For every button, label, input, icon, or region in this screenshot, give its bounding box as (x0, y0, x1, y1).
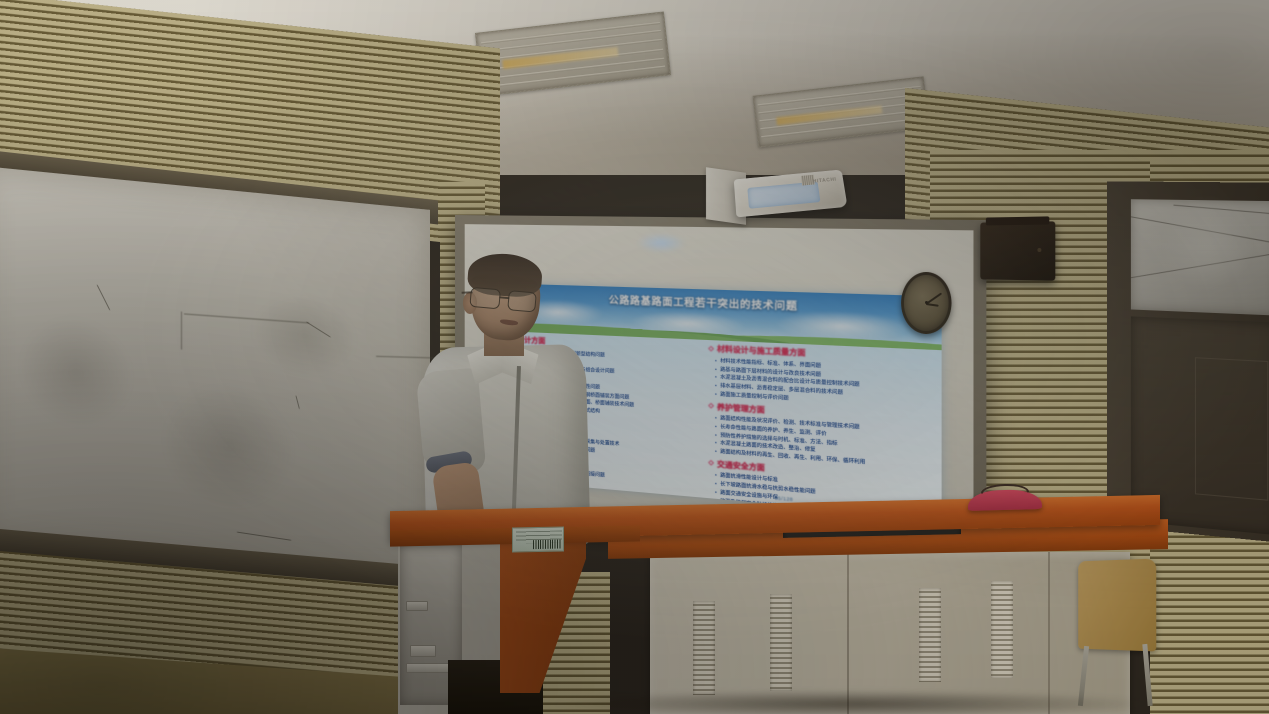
slide-section-heading-text: 材料设计与施工质量方面 (717, 344, 806, 359)
projector-brand-label: HITACHI (812, 177, 836, 184)
power-socket[interactable] (410, 645, 436, 657)
door-light-spill (1160, 196, 1255, 291)
diamond-bullet-icon: ◇ (709, 402, 714, 410)
clock-hour-hand (926, 303, 939, 307)
wall-speaker (980, 221, 1055, 280)
power-socket[interactable] (406, 601, 428, 611)
dash-bullet-icon: ▪ (715, 358, 717, 364)
dash-bullet-icon: ▪ (715, 431, 717, 437)
slide-section-heading-text: 养护管理方面 (717, 401, 765, 415)
speaker-led-icon (1037, 247, 1041, 251)
asset-tag-label (512, 526, 564, 552)
dash-bullet-icon: ▪ (715, 440, 717, 446)
dash-bullet-icon: ▪ (715, 472, 717, 478)
speaker-bracket (986, 217, 1049, 226)
dash-bullet-icon: ▪ (715, 383, 717, 389)
dash-bullet-icon: ▪ (715, 366, 717, 372)
lecture-hall-photo: 公路路基路面工程若干突出的技术问题 ◇ 结构设计方面 ▪软土地基、特殊路基路面工… (0, 0, 1269, 714)
lectern-floor-shadow (540, 690, 1160, 714)
cable-tray (406, 663, 450, 673)
dash-bullet-icon: ▪ (715, 391, 717, 397)
dash-bullet-icon: ▪ (715, 448, 717, 454)
diamond-bullet-icon: ◇ (709, 345, 714, 353)
wall-clock (901, 272, 951, 335)
presenter (418, 258, 588, 548)
barcode-icon (533, 540, 561, 550)
dash-bullet-icon: ▪ (715, 480, 717, 486)
projector: HITACHI (734, 170, 848, 218)
slide-column-right: ◇ 材料设计与施工质量方面 ▪材料技术性能指标、标准、体系、界面问题 ▪路基与路… (701, 341, 941, 519)
dash-bullet-icon: ▪ (715, 489, 717, 495)
projector-lens-icon (748, 181, 820, 208)
slide-section: ◇ 材料设计与施工质量方面 ▪材料技术性能指标、标准、体系、界面问题 ▪路基与路… (709, 344, 934, 411)
projector-hotspot (637, 232, 687, 254)
diamond-bullet-icon: ◇ (709, 459, 714, 467)
door-panel-inset (1195, 357, 1269, 501)
chair-back (1078, 559, 1156, 652)
dash-bullet-icon: ▪ (715, 423, 717, 429)
dash-bullet-icon: ▪ (715, 415, 717, 421)
dash-bullet-icon: ▪ (715, 374, 717, 380)
clock-minute-hand (926, 292, 942, 304)
dash-bullet-icon: ▪ (715, 497, 717, 503)
whiteboard (0, 166, 430, 582)
slide-section-heading-text: 交通安全方面 (717, 459, 765, 474)
